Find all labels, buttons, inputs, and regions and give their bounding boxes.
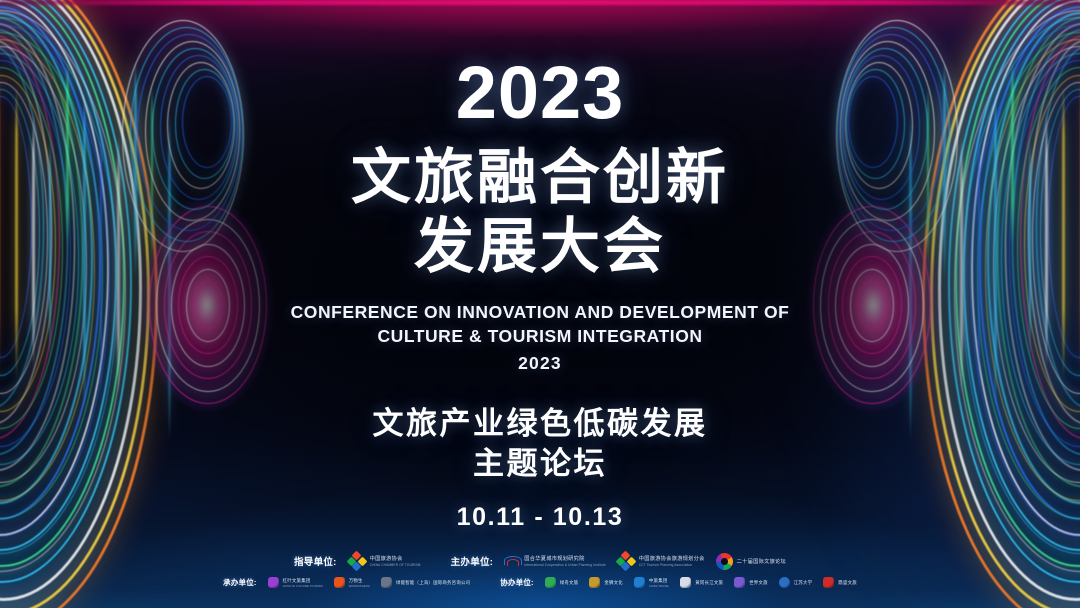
sponsor-logo: 中旅集团CHINA TRAVEL bbox=[634, 577, 669, 588]
sponsor-name-cn: 金狮文化 bbox=[604, 580, 623, 586]
sponsor-name-cn: 江苏大学 bbox=[794, 580, 813, 586]
circle-mark-icon bbox=[779, 577, 790, 588]
main-title-cn-line1: 文旅融合创新 bbox=[351, 144, 729, 211]
diamond-logo-icon bbox=[348, 552, 366, 570]
green-mark-icon bbox=[545, 577, 556, 588]
sponsor-logo-text: 鼎盛文旅 bbox=[838, 580, 857, 586]
sponsor-logo: 绿舟文旅 bbox=[545, 577, 579, 588]
main-title-en-line3: 2023 bbox=[291, 351, 790, 376]
gray-mark-icon bbox=[381, 577, 392, 588]
sponsor-name-cn: 世界文旅 bbox=[749, 580, 768, 586]
sponsor-name-en: CHINA TRAVEL bbox=[649, 585, 669, 588]
main-title-en-line2: CULTURE & TOURISM INTEGRATION bbox=[291, 324, 790, 349]
sponsor-logo-text: 中国旅游协会CHINA CHAMBER OF TOURISM bbox=[370, 555, 421, 567]
gold-mark-icon bbox=[589, 577, 600, 588]
sponsor-name-en: WANWUSHENG bbox=[349, 585, 370, 588]
sponsor-name-en: CCT Tourism Planning Association bbox=[639, 563, 705, 567]
sponsor-logo-text: 万物生WANWUSHENG bbox=[349, 578, 370, 588]
sponsor-name-cn: 万物生 bbox=[349, 578, 370, 584]
diamond-logo-icon bbox=[617, 552, 635, 570]
sponsor-name-cn: 中国旅游协会旅游规划分会 bbox=[639, 555, 705, 562]
sponsor-logo-text: 黄冈长江文旅 bbox=[695, 580, 723, 586]
main-title-en: CONFERENCE ON INNOVATION AND DEVELOPMENT… bbox=[291, 300, 790, 377]
sponsor-logo-text: 绿舟文旅 bbox=[560, 580, 579, 586]
sponsor-logo: 绿能智能（上海）国际商务咨询公司 bbox=[381, 577, 470, 588]
main-title-en-line1: CONFERENCE ON INNOVATION AND DEVELOPMENT… bbox=[291, 300, 790, 325]
red-mark-icon bbox=[823, 577, 834, 588]
sponsor-logo: 黄冈长江文旅 bbox=[680, 577, 723, 588]
sponsor-name-en: International Cooperation & Urban Planni… bbox=[524, 563, 606, 567]
sponsor-logo: 江苏大学 bbox=[779, 577, 813, 588]
main-title-cn: 文旅融合创新 发展大会 bbox=[351, 146, 729, 280]
sponsor-logo-text: 中旅集团CHINA TRAVEL bbox=[649, 578, 669, 588]
sponsor-section: 指导单位:中国旅游协会CHINA CHAMBER OF TOURISM主办单位:… bbox=[0, 552, 1080, 588]
sponsor-logo: 世界文旅 bbox=[734, 577, 768, 588]
sponsor-logo: 中国旅游协会CHINA CHAMBER OF TOURISM bbox=[348, 552, 421, 570]
sponsor-name-en: HONGYE CULTURE TOURISM bbox=[283, 585, 323, 588]
forum-subtitle-line1: 文旅产业绿色低碳发展 bbox=[373, 406, 708, 441]
sponsor-name-cn: 鼎盛文旅 bbox=[838, 580, 857, 586]
sponsor-group-label: 承办单位: bbox=[223, 577, 257, 588]
sponsor-logo-text: 世界文旅 bbox=[749, 580, 768, 586]
violet-mark-icon bbox=[734, 577, 745, 588]
sponsor-logo-text: 江苏大学 bbox=[794, 580, 813, 586]
event-dates: 10.11 - 10.13 bbox=[457, 503, 624, 532]
sponsor-logo: 鼎盛文旅 bbox=[823, 577, 857, 588]
sponsor-logo-text: 中国旅游协会旅游规划分会CCT Tourism Planning Associa… bbox=[639, 555, 705, 567]
sponsor-logo: 国合华夏城市规划研究院International Cooperation & U… bbox=[504, 554, 606, 568]
forum-subtitle-cn: 文旅产业绿色低碳发展 主题论坛 bbox=[373, 404, 708, 485]
forum-subtitle-line2: 主题论坛 bbox=[373, 444, 708, 484]
sponsor-name-cn: 黄冈长江文旅 bbox=[695, 580, 723, 586]
sponsor-logo: 万物生WANWUSHENG bbox=[334, 577, 370, 588]
sponsor-name-cn: 中国旅游协会 bbox=[370, 555, 421, 562]
orange-mark-icon bbox=[334, 577, 345, 588]
sponsor-name-cn: 绿能智能（上海）国际商务咨询公司 bbox=[396, 580, 470, 586]
sponsor-name-cn: 中旅集团 bbox=[649, 578, 669, 584]
white-mark-icon bbox=[680, 577, 691, 588]
sponsor-logo: 中国旅游协会旅游规划分会CCT Tourism Planning Associa… bbox=[617, 552, 705, 570]
sponsor-name-cn: 红叶文旅集团 bbox=[283, 578, 323, 584]
sponsor-logo-text: 绿能智能（上海）国际商务咨询公司 bbox=[396, 580, 470, 586]
blue-mark-icon bbox=[634, 577, 645, 588]
pinwheel-logo-icon bbox=[716, 553, 733, 570]
sponsor-group-label: 协办单位: bbox=[500, 577, 534, 588]
sponsor-logo: 红叶文旅集团HONGYE CULTURE TOURISM bbox=[268, 577, 323, 588]
sponsor-logo: 金狮文化 bbox=[589, 577, 623, 588]
sponsor-logo-text: 红叶文旅集团HONGYE CULTURE TOURISM bbox=[283, 578, 323, 588]
sponsor-row-secondary: 承办单位:红叶文旅集团HONGYE CULTURE TOURISM万物生WANW… bbox=[223, 577, 857, 588]
poster-content: 2023 文旅融合创新 发展大会 CONFERENCE ON INNOVATIO… bbox=[0, 0, 1080, 608]
arc-logo-icon bbox=[504, 554, 520, 568]
sponsor-logo-text: 金狮文化 bbox=[604, 580, 623, 586]
sponsor-logo: 二十届国际文旅论坛 bbox=[716, 553, 786, 570]
sponsor-logo-text: 二十届国际文旅论坛 bbox=[737, 558, 786, 565]
sponsor-name-en: CHINA CHAMBER OF TOURISM bbox=[370, 563, 421, 567]
main-title-cn-line2: 发展大会 bbox=[351, 215, 729, 280]
sponsor-group-label: 主办单位: bbox=[451, 554, 494, 568]
purple-mark-icon bbox=[268, 577, 279, 588]
sponsor-name-cn: 国合华夏城市规划研究院 bbox=[524, 555, 606, 562]
sponsor-name-cn: 绿舟文旅 bbox=[560, 580, 579, 586]
year-heading: 2023 bbox=[456, 56, 625, 130]
sponsor-row-primary: 指导单位:中国旅游协会CHINA CHAMBER OF TOURISM主办单位:… bbox=[294, 552, 786, 570]
conference-poster: 2023 文旅融合创新 发展大会 CONFERENCE ON INNOVATIO… bbox=[0, 0, 1080, 608]
sponsor-logo-text: 国合华夏城市规划研究院International Cooperation & U… bbox=[524, 555, 606, 567]
sponsor-group-label: 指导单位: bbox=[294, 554, 337, 568]
sponsor-name-cn: 二十届国际文旅论坛 bbox=[737, 558, 786, 565]
